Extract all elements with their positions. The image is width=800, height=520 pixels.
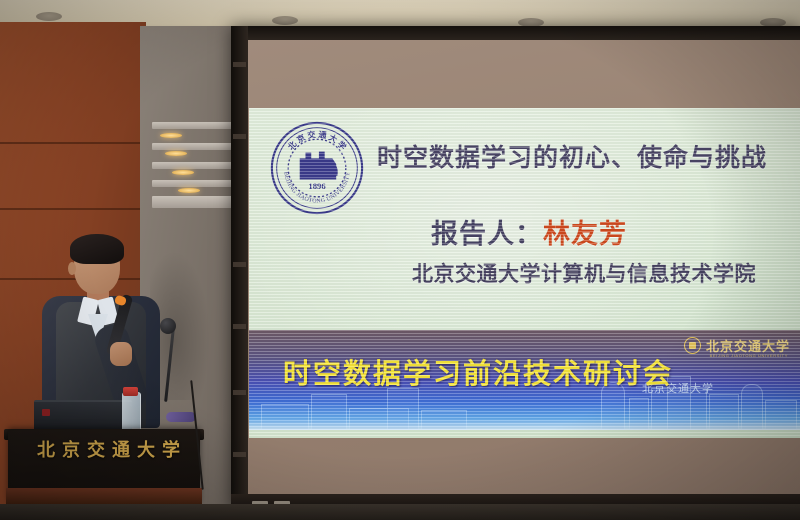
wall-lamp-icon [172,170,194,175]
building-shape [261,404,309,430]
screen-frame-bracket [233,390,246,395]
wall-lamp-icon [165,151,187,156]
screen-left-frame [231,26,248,512]
slide-presenter-line: 报告人：林友芳 [431,212,627,251]
wood-panel-seam [0,142,146,144]
presenter-hand [110,342,132,366]
wall-light-slat [152,196,236,208]
wall-light-slat [152,180,236,187]
slide-event-banner: 北京交通大学 时空数据学习前沿技术研讨会 北京交通大学 BEIJING JIAO… [249,330,800,430]
building-shape [709,394,739,430]
wordmark-seal-icon [684,337,701,354]
building-shape [311,394,347,430]
presenter-label: 报告人： [431,219,543,249]
slide-title: 时空数据学习的初心、使命与挑战 [377,138,795,174]
presenter-hair [70,234,124,264]
building-shape [741,384,763,430]
screen-frame-bracket [233,134,246,139]
screen-top-bar [231,26,800,40]
podium-base [6,488,202,504]
building-shape [629,398,649,430]
svg-text:北 京 交 通 大 学: 北 京 交 通 大 学 [286,129,349,152]
screen-frame-bracket [233,324,246,329]
wall-light-slat [152,143,236,150]
screen-frame-bracket [233,262,246,267]
building-shape [421,410,467,430]
building-shape [765,400,797,430]
water-bottle-cap [123,387,138,396]
floor-band [0,504,800,520]
wood-panel-seam [0,208,146,210]
presenter-ear [68,262,76,275]
event-title: 时空数据学习前沿技术研讨会 [283,352,673,392]
wall-lamp-icon [160,133,182,138]
slide-affiliation: 北京交通大学计算机与信息技术学院 [369,258,799,288]
projected-slide: 1896 北 京 交 通 大 学 BEIJING JIAOTONG UNIVER… [249,108,800,438]
desk-object [166,412,196,422]
wall-light-slat [152,162,236,169]
ceiling-speaker-icon [272,16,298,25]
wall-light-slat [152,122,236,129]
svg-text:1896: 1896 [308,181,326,191]
screen-frame-bracket [233,62,246,67]
microphone-stand-head [160,318,176,334]
presenter-name: 林友芳 [543,219,627,249]
screen-frame-bracket [233,452,246,457]
wall-lamp-icon [178,188,200,193]
laptop-logo [42,409,50,416]
university-seal-icon: 1896 北 京 交 通 大 学 BEIJING JIAOTONG UNIVER… [269,120,365,216]
podium-university-name: 北京交通大学 [24,436,200,462]
building-shape [387,388,419,430]
ceiling-speaker-icon [36,12,62,21]
wordmark-subtext: BEIJING JIAOTONG UNIVERSITY [710,353,788,358]
lecture-hall-photo: 1896 北 京 交 通 大 学 BEIJING JIAOTONG UNIVER… [0,0,800,520]
